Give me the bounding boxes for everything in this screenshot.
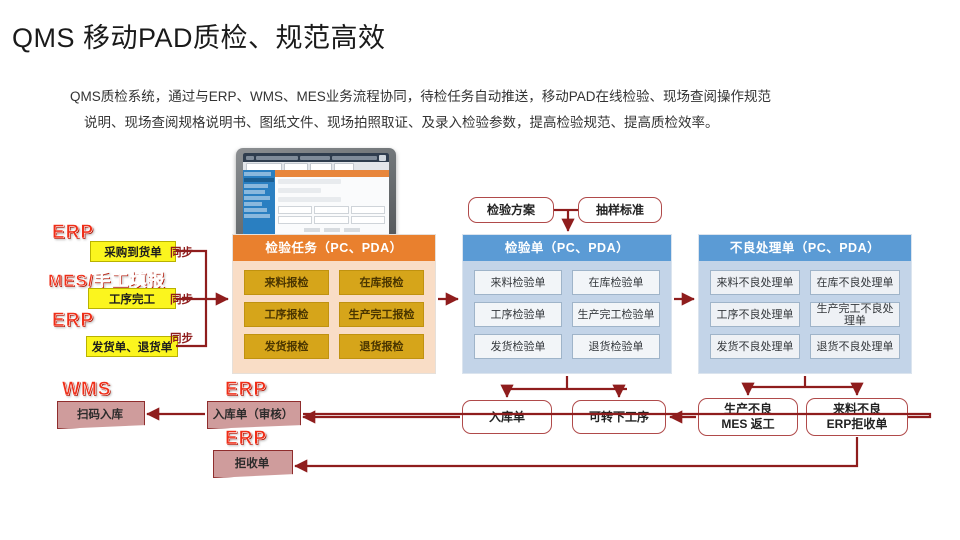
box-label: 拒收单 bbox=[235, 455, 270, 471]
panel-header: 不良处理单（PC、PDA） bbox=[699, 235, 911, 261]
tablet-app-form-fields bbox=[278, 206, 386, 224]
defect-item-incoming[interactable]: 来料不良处理单 bbox=[710, 270, 800, 295]
source-box-delivery-return[interactable]: 发货单、退货单 bbox=[86, 336, 178, 357]
panel-defect-handling: 不良处理单（PC、PDA） 来料不良处理单 在库不良处理单 工序不良处理单 生产… bbox=[698, 234, 912, 374]
box-inbound-order-review[interactable]: 入库单（审核） bbox=[207, 401, 299, 427]
insp-item-return[interactable]: 退货检验单 bbox=[572, 334, 660, 359]
label-wms-bottom: WMS bbox=[62, 379, 111, 401]
box-label: 抽样标准 bbox=[596, 203, 644, 218]
box-label: 入库单 bbox=[489, 410, 525, 425]
sync-label-3: 同步 bbox=[170, 330, 193, 346]
task-item-production-done[interactable]: 生产完工报检 bbox=[339, 302, 424, 327]
insp-item-production-done[interactable]: 生产完工检验单 bbox=[572, 302, 660, 327]
slide-root: QMS 移动PAD质检、规范高效 QMS质检系统，通过与ERP、WMS、MES业… bbox=[0, 0, 960, 540]
source-box-label: 采购到货单 bbox=[104, 244, 162, 260]
box-production-defect-rework[interactable]: 生产不良 MES 返工 bbox=[698, 398, 798, 436]
tablet-app-main bbox=[275, 170, 389, 235]
tablet-app-buttons bbox=[275, 228, 389, 232]
intro-line-1: QMS质检系统，通过与ERP、WMS、MES业务流程协同，待检任务自动推送，移动… bbox=[70, 84, 900, 110]
box-scan-inbound[interactable]: 扫码入库 bbox=[57, 401, 143, 427]
insp-item-instock[interactable]: 在库检验单 bbox=[572, 270, 660, 295]
tablet-app-topbar bbox=[243, 153, 389, 162]
intro-paragraph: QMS质检系统，通过与ERP、WMS、MES业务流程协同，待检任务自动推送，移动… bbox=[70, 84, 900, 136]
box-label: 入库单（审核） bbox=[213, 406, 294, 422]
box-reject-order[interactable]: 拒收单 bbox=[213, 450, 291, 476]
sync-label-1: 同步 bbox=[170, 244, 193, 260]
panel-items: 来料不良处理单 在库不良处理单 工序不良处理单 生产完工不良处理单 发货不良处理… bbox=[699, 261, 911, 368]
tablet-screen bbox=[243, 153, 389, 235]
tablet-app-body bbox=[243, 170, 389, 235]
task-item-process[interactable]: 工序报检 bbox=[244, 302, 329, 327]
panel-inspection-task: 检验任务（PC、PDA） 来料报检 在库报检 工序报检 生产完工报检 发货报检 … bbox=[232, 234, 436, 374]
source-box-process-complete[interactable]: 工序完工 bbox=[88, 288, 176, 309]
defect-item-production-done[interactable]: 生产完工不良处理单 bbox=[810, 302, 900, 327]
box-incoming-defect-reject[interactable]: 来料不良 ERP拒收单 bbox=[806, 398, 908, 436]
source-box-purchase-receipt[interactable]: 采购到货单 bbox=[90, 241, 176, 262]
panel-items: 来料报检 在库报检 工序报检 生产完工报检 发货报检 退货报检 bbox=[233, 261, 435, 368]
intro-line-2: 说明、现场查阅规格说明书、图纸文件、现场拍照取证、及录入检验参数，提高检验规范、… bbox=[70, 110, 900, 136]
label-erp-receipt: ERP bbox=[225, 379, 267, 401]
box-sampling-standard[interactable]: 抽样标准 bbox=[578, 197, 662, 223]
tablet-device-image bbox=[236, 148, 396, 240]
task-item-return[interactable]: 退货报检 bbox=[339, 334, 424, 359]
box-label-line2: ERP拒收单 bbox=[827, 417, 888, 432]
panel-inspection-sheet: 检验单（PC、PDA） 来料检验单 在库检验单 工序检验单 生产完工检验单 发货… bbox=[462, 234, 672, 374]
label-erp-mid: ERP bbox=[52, 310, 94, 332]
page-title: QMS 移动PAD质检、规范高效 bbox=[12, 16, 386, 55]
box-warehouse-entry[interactable]: 入库单 bbox=[462, 400, 552, 434]
panel-header: 检验单（PC、PDA） bbox=[463, 235, 671, 261]
task-item-incoming[interactable]: 来料报检 bbox=[244, 270, 329, 295]
task-item-shipment[interactable]: 发货报检 bbox=[244, 334, 329, 359]
defect-item-shipment[interactable]: 发货不良处理单 bbox=[710, 334, 800, 359]
defect-item-process[interactable]: 工序不良处理单 bbox=[710, 302, 800, 327]
box-label: 可转下工序 bbox=[589, 410, 649, 425]
box-label-line1: 来料不良 bbox=[833, 402, 881, 417]
label-erp-reject: ERP bbox=[225, 428, 267, 450]
tablet-app-sidebar bbox=[243, 170, 275, 235]
panel-items: 来料检验单 在库检验单 工序检验单 生产完工检验单 发货检验单 退货检验单 bbox=[463, 261, 671, 368]
defect-item-return[interactable]: 退货不良处理单 bbox=[810, 334, 900, 359]
sync-label-2: 同步 bbox=[170, 291, 193, 307]
box-label-line1: 生产不良 bbox=[724, 402, 772, 417]
task-item-instock[interactable]: 在库报检 bbox=[339, 270, 424, 295]
tablet-app-section-header bbox=[275, 170, 389, 177]
box-label: 扫码入库 bbox=[77, 406, 123, 422]
label-erp-top: ERP bbox=[52, 222, 94, 244]
box-next-process[interactable]: 可转下工序 bbox=[572, 400, 666, 434]
insp-item-process[interactable]: 工序检验单 bbox=[474, 302, 562, 327]
source-box-label: 发货单、退货单 bbox=[92, 339, 173, 355]
panel-header: 检验任务（PC、PDA） bbox=[233, 235, 435, 261]
tablet-app-tabs bbox=[243, 162, 389, 170]
box-label-line2: MES 返工 bbox=[721, 417, 774, 432]
box-inspection-plan[interactable]: 检验方案 bbox=[468, 197, 554, 223]
insp-item-incoming[interactable]: 来料检验单 bbox=[474, 270, 562, 295]
insp-item-shipment[interactable]: 发货检验单 bbox=[474, 334, 562, 359]
defect-item-instock[interactable]: 在库不良处理单 bbox=[810, 270, 900, 295]
source-box-label: 工序完工 bbox=[109, 291, 155, 307]
box-label: 检验方案 bbox=[487, 203, 535, 218]
